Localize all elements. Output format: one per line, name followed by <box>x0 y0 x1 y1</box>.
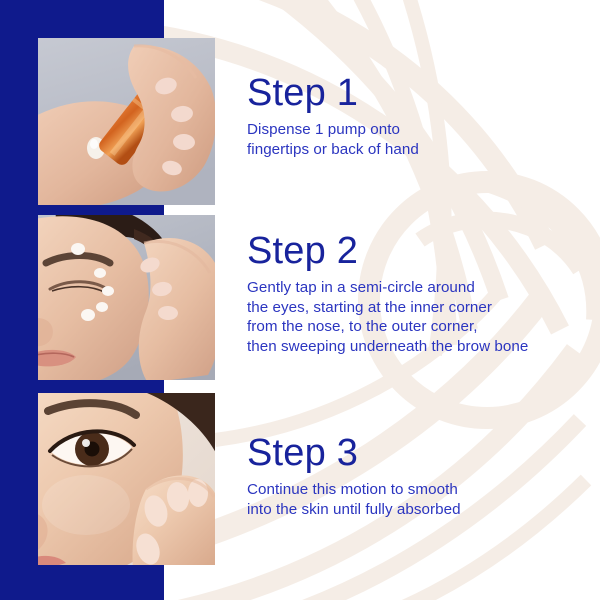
step-1-body: Dispense 1 pump onto fingertips or back … <box>247 120 419 159</box>
step-1-title: Step 1 <box>247 70 419 116</box>
step-block-2: Step 2 Gently tap in a semi-circle aroun… <box>247 228 528 356</box>
step-2-title: Step 2 <box>247 228 528 274</box>
step-block-3: Step 3 Continue this motion to smooth in… <box>247 430 461 519</box>
photo-smooth-into-skin <box>38 393 215 565</box>
step-block-1: Step 1 Dispense 1 pump onto fingertips o… <box>247 70 419 159</box>
step-2-body: Gently tap in a semi-circle around the e… <box>247 278 528 356</box>
photo-tap-around-eye <box>38 215 215 380</box>
step-3-title: Step 3 <box>247 430 461 476</box>
instructional-graphic: Step 1 Dispense 1 pump onto fingertips o… <box>0 0 600 600</box>
photo-dispense-pump <box>38 38 215 205</box>
step-3-body: Continue this motion to smooth into the … <box>247 480 461 519</box>
